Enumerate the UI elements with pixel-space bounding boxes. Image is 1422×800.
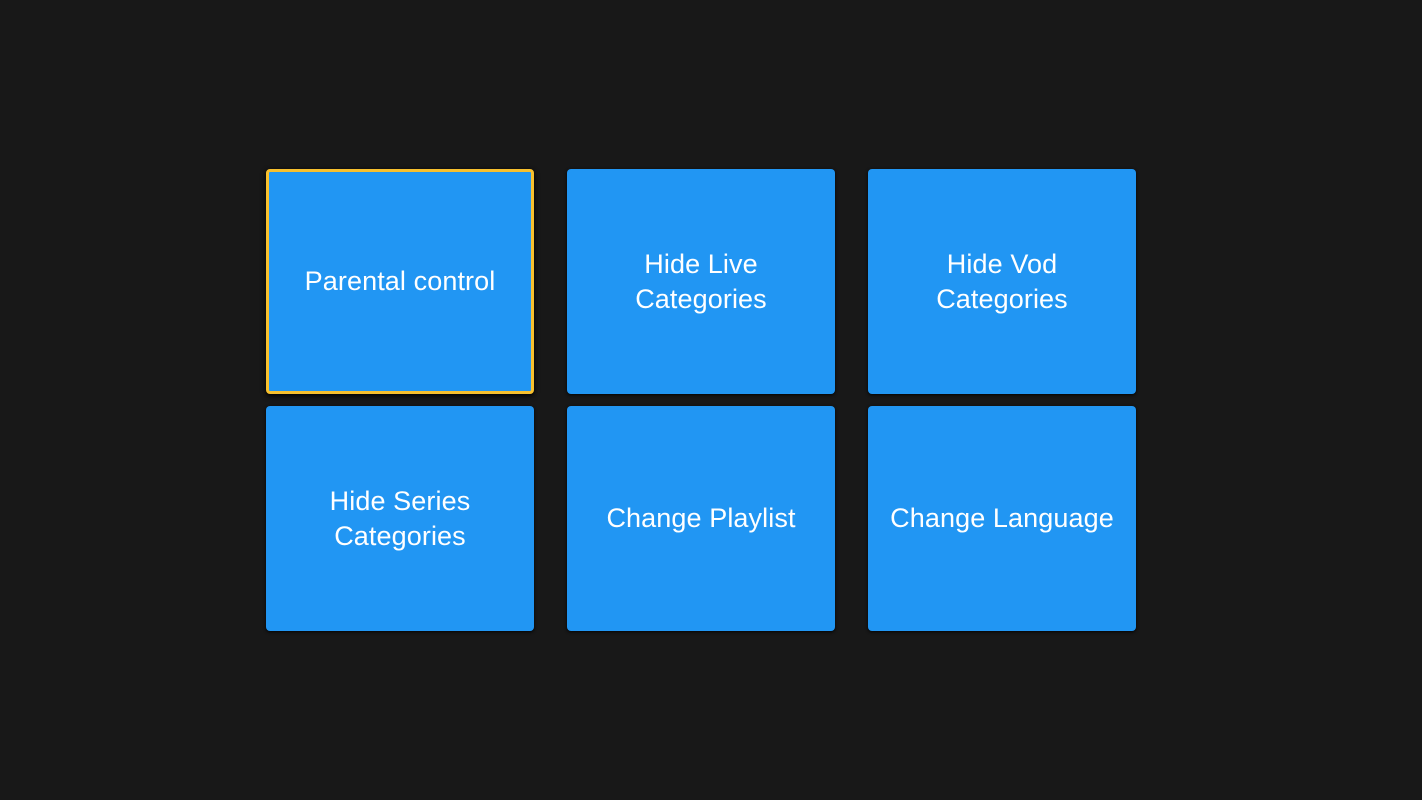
tile-label-hide-vod-categories: Hide Vod Categories bbox=[922, 247, 1082, 317]
tile-hide-vod-categories[interactable]: Hide Vod Categories bbox=[868, 169, 1136, 394]
settings-tile-grid: Parental control Hide Live Categories Hi… bbox=[266, 169, 1135, 631]
tile-parental-control[interactable]: Parental control bbox=[266, 169, 534, 394]
settings-menu-screen: Parental control Hide Live Categories Hi… bbox=[0, 0, 1422, 800]
tile-hide-live-categories[interactable]: Hide Live Categories bbox=[567, 169, 835, 394]
tile-label-parental-control: Parental control bbox=[291, 264, 510, 299]
tile-change-playlist[interactable]: Change Playlist bbox=[567, 406, 835, 631]
tile-label-change-language: Change Language bbox=[876, 501, 1128, 536]
tile-hide-series-categories[interactable]: Hide Series Categories bbox=[266, 406, 534, 631]
tile-label-hide-live-categories: Hide Live Categories bbox=[621, 247, 781, 317]
tile-label-change-playlist: Change Playlist bbox=[592, 501, 809, 536]
tile-label-hide-series-categories: Hide Series Categories bbox=[316, 484, 485, 554]
tile-change-language[interactable]: Change Language bbox=[868, 406, 1136, 631]
